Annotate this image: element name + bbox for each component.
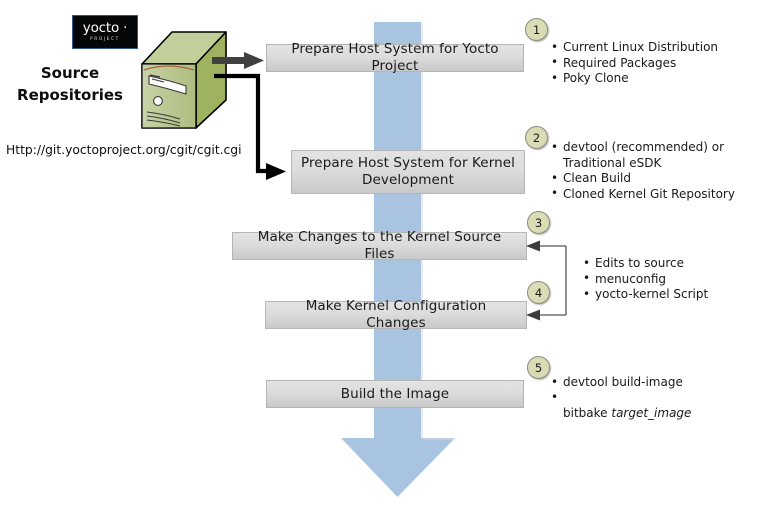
process-box-step5-label: Build the Image (333, 386, 457, 403)
list-item-argument: target_image (611, 406, 691, 420)
step-circle-5: 5 (527, 356, 550, 379)
list-item: yocto-kernel Script (583, 287, 768, 303)
step-circle-2-number: 2 (533, 131, 540, 145)
process-box-step3-label: Make Changes to the Kernel Source Files (233, 229, 526, 263)
step5-bullet-list: devtool build-image bitbake target_image (551, 375, 766, 422)
process-box-step4-label: Make Kernel Configuration Changes (266, 298, 526, 332)
list-item: Clean Build (551, 171, 766, 187)
process-box-step3[interactable]: Make Changes to the Kernel Source Files (232, 232, 527, 260)
process-box-step4[interactable]: Make Kernel Configuration Changes (265, 301, 527, 329)
process-box-step5[interactable]: Build the Image (266, 380, 524, 408)
process-box-step1-label: Prepare Host System for Yocto Project (267, 41, 523, 75)
list-item: Cloned Kernel Git Repository (551, 187, 766, 203)
yocto-project-logo: yocto · PROJECT (72, 15, 138, 49)
source-label-line2: Repositories (5, 84, 135, 106)
step-circle-3-number: 3 (535, 216, 542, 230)
step-circle-3: 3 (527, 211, 550, 234)
process-box-step2[interactable]: Prepare Host System for Kernel Developme… (291, 150, 525, 194)
source-repository-url: Http://git.yoctoproject.org/cgit/cgit.cg… (6, 143, 242, 157)
step-circle-1-number: 1 (533, 23, 540, 37)
steps-3-4-bracket-connector (518, 236, 578, 326)
step-circle-1: 1 (525, 18, 548, 41)
process-box-step2-label-line2: Development (354, 172, 462, 189)
list-item: menuconfig (583, 272, 768, 288)
diagram-canvas: yocto · PROJECT Source Repositories Http… (0, 0, 769, 517)
step-circle-5-number: 5 (535, 361, 542, 375)
logo-subtitle: PROJECT (90, 36, 120, 43)
arrow-to-step1 (212, 52, 264, 69)
arrow-to-step2 (214, 76, 286, 180)
steps-3-4-bullet-list: Edits to source menuconfig yocto-kernel … (583, 256, 768, 303)
list-item: Current Linux Distribution (551, 40, 766, 56)
list-item: Required Packages (551, 56, 766, 72)
list-item: bitbake target_image (551, 391, 766, 422)
step2-bullet-list: devtool (recommended) or Traditional eSD… (551, 140, 766, 202)
source-repositories-label: Source Repositories (5, 62, 135, 106)
list-item: devtool (recommended) or Traditional eSD… (551, 140, 766, 171)
list-item: Edits to source (583, 256, 768, 272)
process-box-step1[interactable]: Prepare Host System for Yocto Project (266, 44, 524, 72)
list-item: Poky Clone (551, 71, 766, 87)
list-item: devtool build-image (551, 375, 766, 391)
process-box-step2-label-line1: Prepare Host System for Kernel (293, 155, 523, 172)
step1-bullet-list: Current Linux Distribution Required Pack… (551, 40, 766, 87)
list-item-command: bitbake (563, 406, 611, 420)
step-circle-2: 2 (525, 126, 548, 149)
source-label-line1: Source (5, 62, 135, 84)
logo-wordmark: yocto · (83, 22, 127, 35)
